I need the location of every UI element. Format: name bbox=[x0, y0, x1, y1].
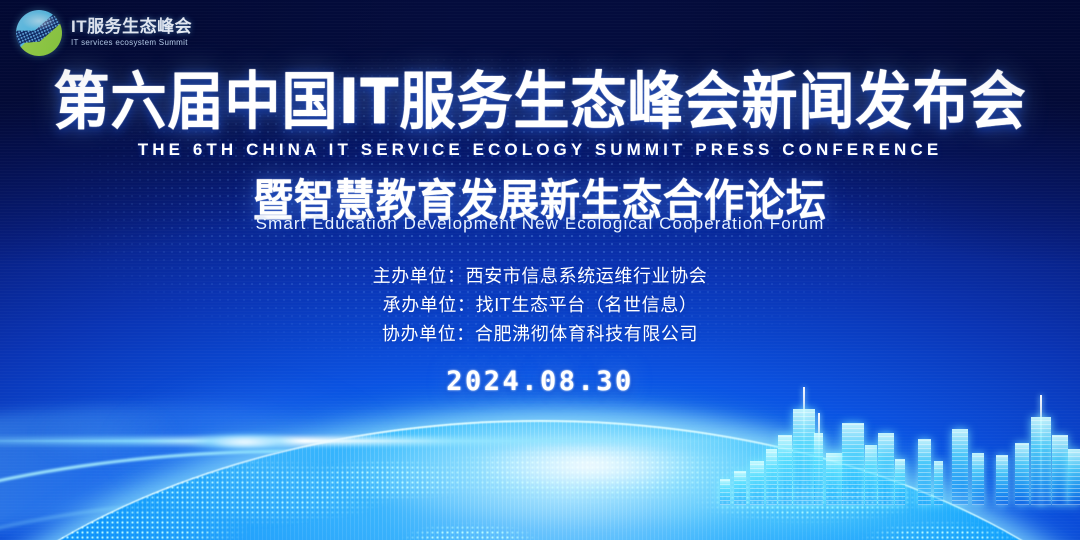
organizer-organizer: 承办单位：找IT生态平台（名世信息） bbox=[0, 291, 1080, 320]
main-title-cn: 第六届中国IT服务生态峰会新闻发布会 bbox=[0, 70, 1080, 136]
organizer-coorganizer: 协办单位：合肥沸彻体育科技有限公司 bbox=[0, 320, 1080, 349]
sub-title-en: Smart Education Development New Ecologic… bbox=[0, 214, 1080, 234]
conference-poster: IT服务生态峰会 IT services ecosystem Summit 第六… bbox=[0, 0, 1080, 540]
event-date: 2024.08.30 bbox=[0, 366, 1080, 397]
organizer-host: 主办单位：西安市信息系统运维行业协会 bbox=[0, 262, 1080, 291]
main-title-en: THE 6TH CHINA IT SERVICE ECOLOGY SUMMIT … bbox=[0, 140, 1080, 160]
poster-content: 第六届中国IT服务生态峰会新闻发布会 THE 6TH CHINA IT SERV… bbox=[0, 0, 1080, 540]
organizer-list: 主办单位：西安市信息系统运维行业协会 承办单位：找IT生态平台（名世信息） 协办… bbox=[0, 262, 1080, 349]
